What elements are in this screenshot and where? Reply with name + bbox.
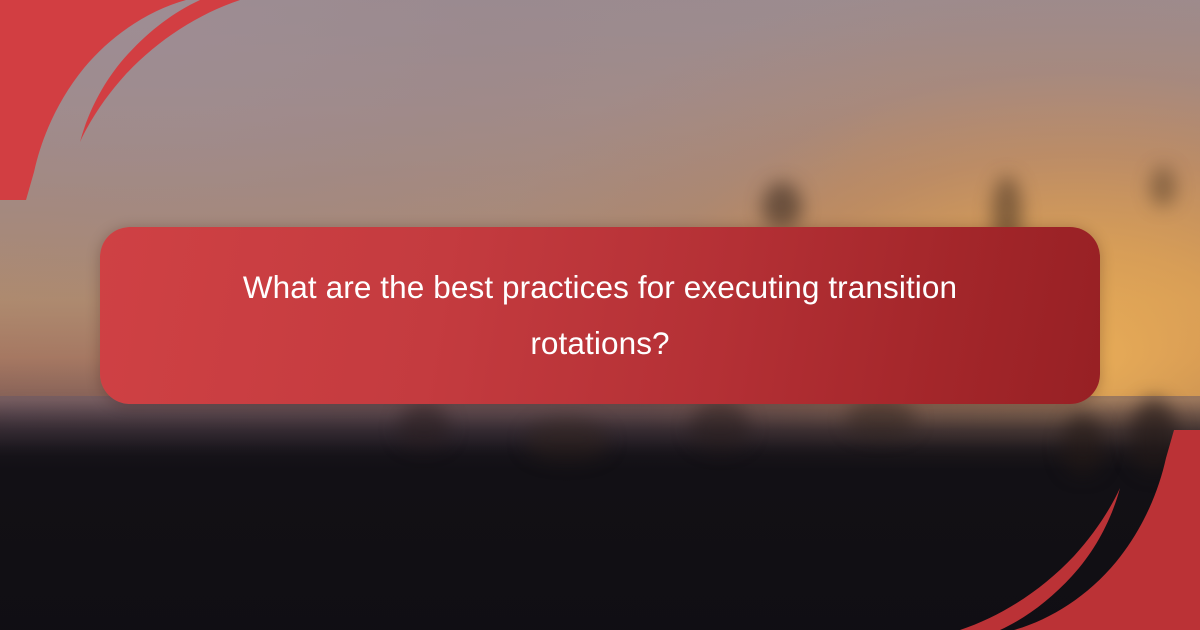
- question-title: What are the best practices for executin…: [230, 260, 970, 370]
- crowd-silhouette: [525, 418, 609, 460]
- crowd-silhouette: [690, 402, 750, 450]
- crowd-silhouette: [1062, 414, 1104, 474]
- crowd-silhouette: [398, 404, 450, 448]
- social-share-card: What are the best practices for executin…: [0, 0, 1200, 630]
- crowd-silhouette: [846, 398, 916, 438]
- crowd-silhouette: [1150, 166, 1176, 206]
- crowd-silhouette: [762, 182, 802, 228]
- question-card: What are the best practices for executin…: [100, 227, 1100, 404]
